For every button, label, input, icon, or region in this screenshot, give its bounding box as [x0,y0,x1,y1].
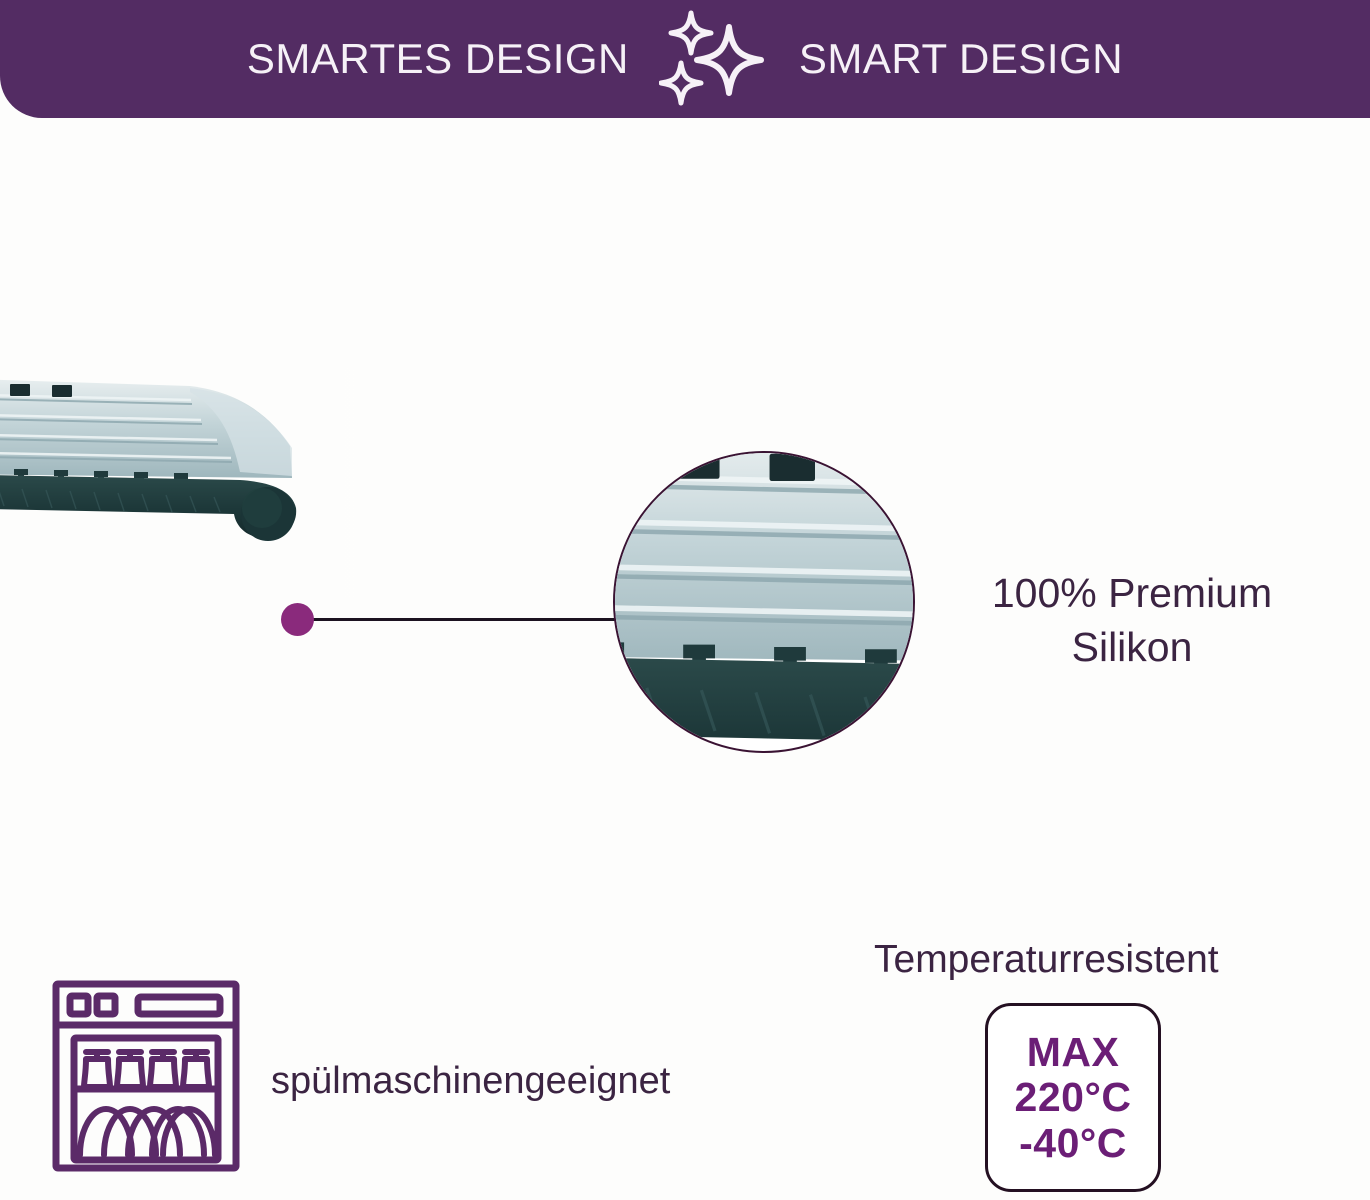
sparkles-icon [659,7,769,111]
dishwasher-icon [50,978,242,1174]
banner-title-english: SMART DESIGN [799,38,1123,80]
dishwasher-label: spülmaschinengeeignet [271,1060,670,1103]
infographic-page: SMARTES DESIGN SMART DESIGN [0,0,1370,1200]
product-photo-area: 100% Premium Silikon [0,118,1370,918]
temperature-badge-high: 220°C [1015,1075,1132,1119]
premium-silicone-label: 100% Premium Silikon [952,566,1312,674]
callout-anchor-dot [281,603,314,636]
temperature-badge-max: MAX [1027,1030,1120,1074]
temperature-badge: MAX 220°C -40°C [985,1003,1161,1192]
banner-title-german: SMARTES DESIGN [247,38,629,80]
header-banner: SMARTES DESIGN SMART DESIGN [0,0,1370,118]
premium-silicone-line1: 100% Premium [952,566,1312,620]
magnifier-circle [613,451,915,753]
premium-silicone-line2: Silikon [952,620,1312,674]
temperature-badge-low: -40°C [1019,1121,1127,1165]
temperature-title: Temperaturresistent [874,938,1219,982]
silicone-mat-photo [0,368,380,598]
callout-connector-line [300,618,616,621]
